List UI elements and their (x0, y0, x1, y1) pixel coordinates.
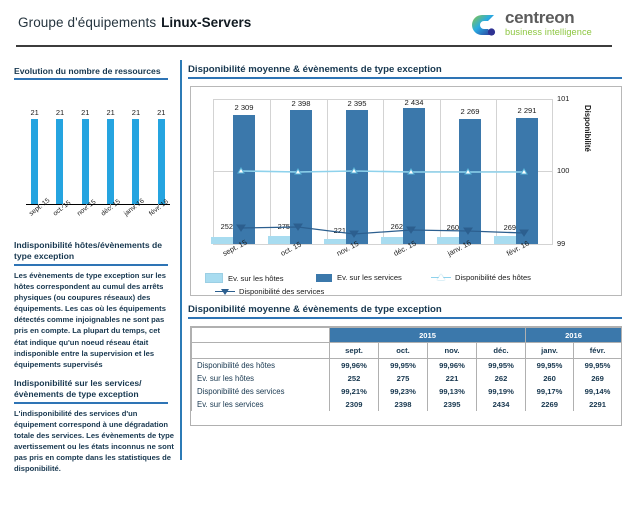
logo-tagline: business intelligence (505, 27, 592, 38)
cell: 260 (526, 372, 574, 385)
table-section-heading-text: Disponibilité moyenne & évènements de ty… (188, 304, 622, 317)
legend-item-services-events[interactable]: Ev. sur les services (316, 273, 402, 282)
chart-x-axis-labels: sept. 15 oct. 15 nov. 15 déc. 15 janv. 1… (213, 247, 553, 273)
chart-section-heading: Disponibilité moyenne & évènements de ty… (188, 64, 622, 79)
sidebar-block1-heading: Indisponibilité hôtes/évènements de type… (14, 240, 168, 266)
cell: 99,96% (428, 359, 477, 373)
table-corner-cell (192, 328, 330, 343)
cell: 99,21% (330, 385, 379, 398)
bar (158, 119, 165, 204)
row-label-hosts-events: Ev. sur les hôtes (192, 372, 330, 385)
legend-item-services-availability[interactable]: Disponibilité des services (215, 287, 324, 296)
legend-label: Ev. sur les services (337, 273, 402, 282)
page-header: Groupe d'équipementsLinux-Servers centre… (0, 0, 628, 48)
cell: 2395 (428, 398, 477, 411)
table-year-2015: 2015 (330, 328, 526, 343)
availability-lines (213, 99, 553, 245)
legend-label: Ev. sur les hôtes (228, 274, 284, 283)
cell: 99,95% (379, 359, 428, 373)
table-section-heading: Disponibilité moyenne & évènements de ty… (188, 304, 622, 319)
cell: 99,17% (526, 385, 574, 398)
table-year-2016: 2016 (526, 328, 622, 343)
right-y-axis: 101 100 99 (557, 99, 583, 245)
bar (132, 119, 139, 204)
table-col-janv: janv. (526, 343, 574, 359)
sidebar-bar-item: 21 (150, 100, 172, 204)
heading-underline (14, 402, 168, 404)
heading-underline (14, 264, 168, 266)
bar-value-label: 21 (132, 108, 140, 117)
sidebar-bar-item: 21 (100, 100, 122, 204)
bar (31, 119, 38, 204)
bar (82, 119, 89, 204)
bar (107, 119, 114, 204)
sidebar-bar-item: 21 (49, 100, 71, 204)
table-col-dec: déc. (477, 343, 526, 359)
table-year-header-row: 2015 2016 (192, 328, 622, 343)
legend-swatch-services-icon (316, 274, 332, 282)
heading-underline (188, 77, 622, 79)
resources-evolution-chart: 21 21 21 21 21 21 (14, 86, 174, 231)
bar-value-label: 21 (81, 108, 89, 117)
cell: 262 (477, 372, 526, 385)
bar-value-label: 21 (30, 108, 38, 117)
table-row: Ev. sur les hôtes 252 275 221 262 260 26… (192, 372, 622, 385)
cell: 269 (574, 372, 622, 385)
sidebar-x-axis-labels: sept. 15 oct. 15 nov. 15 déc. 15 janv. 1… (22, 208, 174, 236)
legend-swatch-hosts-icon (205, 273, 223, 283)
table-month-header-row: sept. oct. nov. déc. janv. févr. (192, 343, 622, 359)
table-col-fevr: févr. (574, 343, 622, 359)
sidebar-block2-heading-text: Indisponibilité sur les services/ évènem… (14, 378, 168, 402)
cell: 99,14% (574, 385, 622, 398)
sidebar-bar-item: 21 (74, 100, 96, 204)
sidebar-block2-heading: Indisponibilité sur les services/ évènem… (14, 378, 168, 404)
sidebar-bar-group: 21 21 21 21 21 21 (22, 100, 174, 204)
bar-value-label: 21 (106, 108, 114, 117)
header-divider (16, 45, 612, 47)
cell: 275 (379, 372, 428, 385)
logo-wordmark: centreon (505, 9, 592, 27)
cell: 221 (428, 372, 477, 385)
cell: 2434 (477, 398, 526, 411)
cell: 99,95% (574, 359, 622, 373)
y-tick-label: 99 (557, 239, 565, 248)
row-label-services-availability: Disponibilité des services (192, 385, 330, 398)
sidebar-chart-heading: Evolution du nombre de ressources (14, 66, 168, 80)
table-col-oct: oct. (379, 343, 428, 359)
legend-label: Disponibilité des hôtes (455, 273, 531, 282)
centreon-logo: centreon business intelligence (472, 9, 614, 42)
chart-plot-area: 2 309 2 398 2 395 2 434 2 269 2 291 252 … (213, 99, 553, 245)
cell: 99,19% (477, 385, 526, 398)
centreon-c-logo-icon (472, 11, 500, 39)
legend-item-hosts-availability[interactable]: Disponibilité des hôtes (431, 273, 531, 282)
heading-underline (188, 317, 622, 319)
logo-text: centreon business intelligence (505, 9, 592, 38)
page-title: Groupe d'équipementsLinux-Servers (18, 14, 251, 32)
sidebar-block2-body: L'indisponibilité des services d'un équi… (14, 408, 174, 475)
chart-legend: Ev. sur les hôtes Ev. sur les services D… (205, 273, 615, 303)
legend-marker-triangle-up-icon (431, 273, 451, 282)
sidebar: Evolution du nombre de ressources 21 21 … (0, 58, 180, 523)
cell: 99,13% (428, 385, 477, 398)
availability-chart: 2 309 2 398 2 395 2 434 2 269 2 291 252 … (190, 86, 622, 296)
cell: 99,95% (477, 359, 526, 373)
table-col-nov: nov. (428, 343, 477, 359)
y-axis-title: Disponibilité (583, 105, 592, 152)
availability-table: 2015 2016 sept. oct. nov. déc. janv. fév… (191, 327, 622, 411)
page-title-name: Linux-Servers (161, 15, 251, 30)
bar (56, 119, 63, 204)
cell: 2269 (526, 398, 574, 411)
bar-value-label: 21 (56, 108, 64, 117)
sidebar-bar-item: 21 (24, 100, 46, 204)
cell: 2291 (574, 398, 622, 411)
table-corner-cell (192, 343, 330, 359)
table-col-sept: sept. (330, 343, 379, 359)
chart-section-heading-text: Disponibilité moyenne & évènements de ty… (188, 64, 622, 77)
bar-value-label: 21 (157, 108, 165, 117)
sidebar-bar-item: 21 (125, 100, 147, 204)
legend-item-hosts-events[interactable]: Ev. sur les hôtes (205, 273, 284, 283)
availability-table-wrapper: 2015 2016 sept. oct. nov. déc. janv. fév… (190, 326, 622, 426)
table-row: Disponibilité des hôtes 99,96% 99,95% 99… (192, 359, 622, 373)
cell: 252 (330, 372, 379, 385)
cell: 99,96% (330, 359, 379, 373)
legend-label: Disponibilité des services (239, 287, 324, 296)
y-tick-label: 100 (557, 166, 569, 175)
sidebar-chart-heading-text: Evolution du nombre de ressources (14, 66, 168, 78)
cell: 2309 (330, 398, 379, 411)
row-label-hosts-availability: Disponibilité des hôtes (192, 359, 330, 373)
table-row: Disponibilité des services 99,21% 99,23%… (192, 385, 622, 398)
legend-marker-triangle-down-icon (215, 287, 235, 296)
cell: 99,95% (526, 359, 574, 373)
page-title-prefix: Groupe d'équipements (18, 15, 156, 30)
sidebar-divider (180, 60, 182, 460)
main-content: Disponibilité moyenne & évènements de ty… (188, 58, 628, 523)
cell: 2398 (379, 398, 428, 411)
sidebar-block1-heading-text: Indisponibilité hôtes/évènements de type… (14, 240, 168, 264)
row-label-services-events: Ev. sur les services (192, 398, 330, 411)
table-row: Ev. sur les services 2309 2398 2395 2434… (192, 398, 622, 411)
y-tick-label: 101 (557, 94, 569, 103)
sidebar-block1-body: Les évènements de type exception sur les… (14, 270, 174, 370)
heading-underline (14, 78, 168, 80)
cell: 99,23% (379, 385, 428, 398)
